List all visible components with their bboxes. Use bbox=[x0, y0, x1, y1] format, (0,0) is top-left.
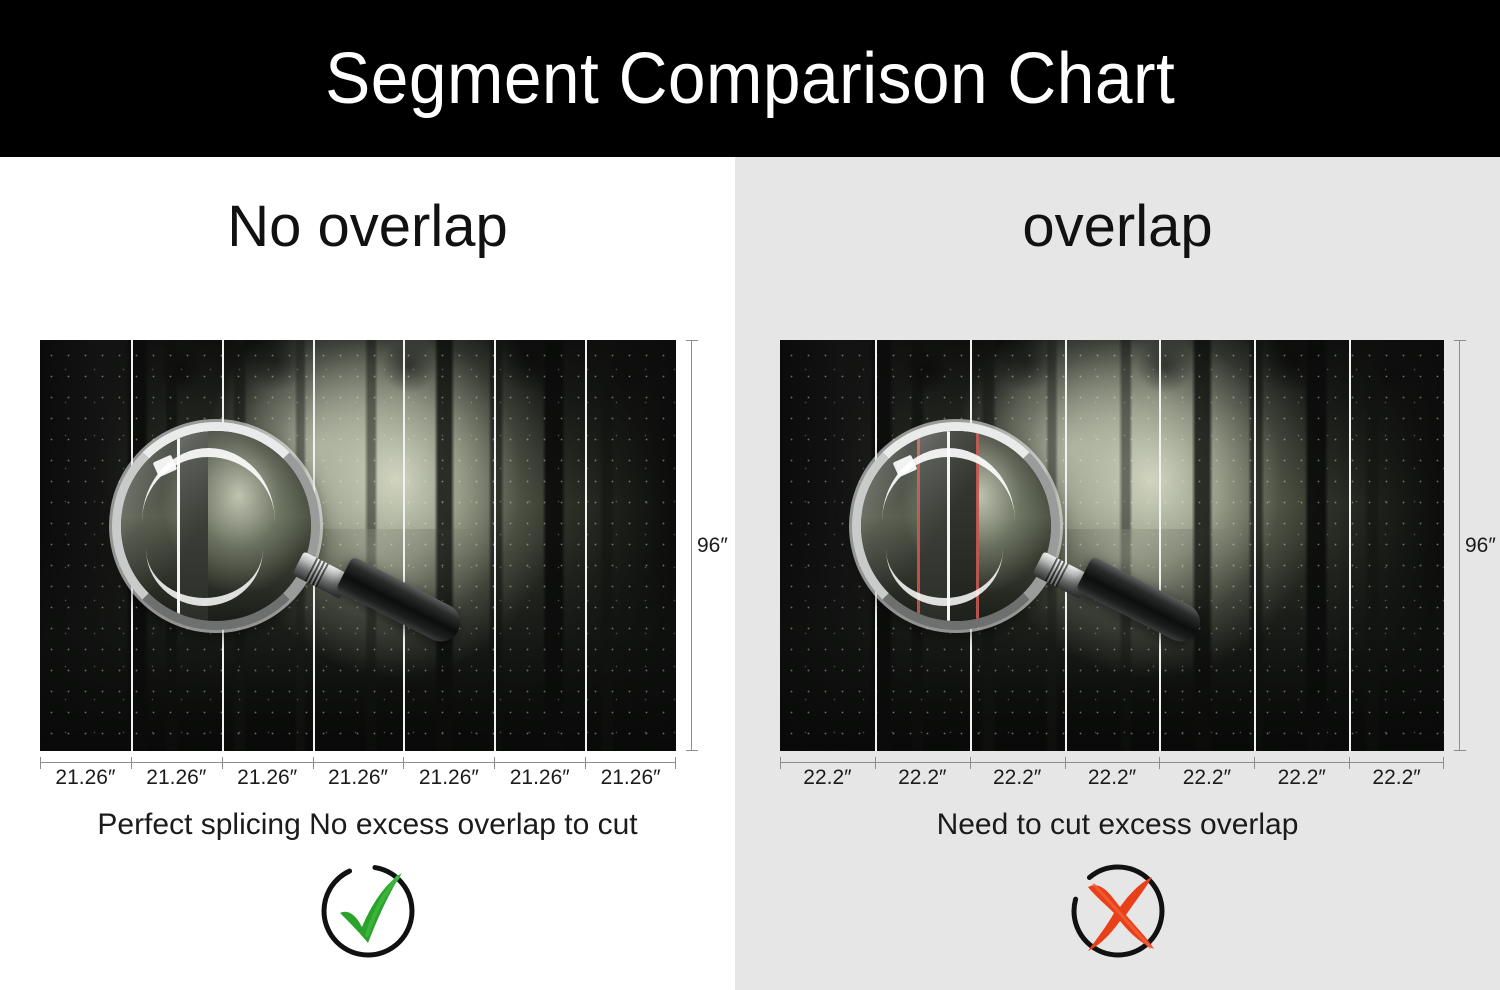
width-dimensions-overlap: 22.2″ 22.2″ 22.2″ 22.2″ 22.2″ 22.2″ 22.2… bbox=[780, 757, 1444, 791]
forest-mural-image bbox=[40, 340, 676, 751]
caption-overlap: Need to cut excess overlap bbox=[735, 807, 1500, 843]
seam-line bbox=[1254, 340, 1256, 751]
panel-heading-overlap: overlap bbox=[735, 195, 1500, 259]
seam-line bbox=[131, 340, 133, 751]
segment-width-labels-no-overlap: 21.26″ 21.26″ 21.26″ 21.26″ 21.26″ 21.26… bbox=[40, 765, 676, 791]
verdict-overlap bbox=[735, 857, 1500, 965]
seam-line bbox=[585, 340, 587, 751]
dimension-line-vertical bbox=[1459, 340, 1460, 751]
mural-overlap bbox=[780, 340, 1444, 751]
segment-width-label: 21.26″ bbox=[40, 765, 131, 791]
dimension-line-vertical bbox=[691, 340, 692, 751]
height-dimension-no-overlap: 96″ bbox=[686, 340, 732, 751]
segment-width-label: 21.26″ bbox=[131, 765, 222, 791]
segment-comparison-chart: Segment Comparison Chart No overlap bbox=[0, 0, 1500, 990]
red-cross-icon bbox=[1064, 857, 1172, 965]
verdict-no-overlap bbox=[0, 857, 790, 965]
segment-width-label: 22.2″ bbox=[1065, 765, 1160, 791]
seam-line bbox=[222, 340, 224, 751]
seam-line bbox=[970, 340, 972, 751]
height-label-overlap: 96″ bbox=[1465, 534, 1496, 558]
dimension-tick bbox=[686, 340, 698, 341]
segment-width-labels-overlap: 22.2″ 22.2″ 22.2″ 22.2″ 22.2″ 22.2″ 22.2… bbox=[780, 765, 1444, 791]
seam-line bbox=[403, 340, 405, 751]
green-check-icon bbox=[314, 857, 422, 965]
page-title: Segment Comparison Chart bbox=[325, 43, 1175, 115]
segment-width-label: 22.2″ bbox=[1254, 765, 1349, 791]
dimension-tick bbox=[1454, 750, 1466, 751]
comparison-panels: No overlap bbox=[0, 157, 1500, 990]
mural-no-overlap bbox=[40, 340, 676, 751]
segment-width-label: 21.26″ bbox=[403, 765, 494, 791]
seam-line bbox=[1159, 340, 1161, 751]
caption-no-overlap: Perfect splicing No excess overlap to cu… bbox=[0, 807, 790, 843]
segment-width-label: 22.2″ bbox=[875, 765, 970, 791]
panel-seam-lines bbox=[40, 340, 676, 751]
panel-heading-no-overlap: No overlap bbox=[0, 195, 790, 259]
height-dimension-overlap: 96″ bbox=[1454, 340, 1500, 751]
segment-width-label: 22.2″ bbox=[1349, 765, 1444, 791]
panel-seam-lines bbox=[780, 340, 1444, 751]
segment-width-label: 21.26″ bbox=[585, 765, 676, 791]
segment-width-label: 22.2″ bbox=[780, 765, 875, 791]
segment-width-label: 21.26″ bbox=[494, 765, 585, 791]
seam-line bbox=[1065, 340, 1067, 751]
panel-overlap: overlap bbox=[735, 157, 1500, 990]
segment-width-label: 22.2″ bbox=[1159, 765, 1254, 791]
seam-line bbox=[494, 340, 496, 751]
seam-line bbox=[313, 340, 315, 751]
dimension-tick bbox=[1454, 340, 1466, 341]
panel-no-overlap: No overlap bbox=[0, 157, 735, 990]
segment-width-label: 21.26″ bbox=[222, 765, 313, 791]
seam-line bbox=[875, 340, 877, 751]
dimension-line-horizontal bbox=[780, 762, 1444, 763]
segment-width-label: 21.26″ bbox=[313, 765, 404, 791]
width-dimensions-no-overlap: 21.26″ 21.26″ 21.26″ 21.26″ 21.26″ 21.26… bbox=[40, 757, 676, 791]
dimension-tick bbox=[686, 750, 698, 751]
forest-mural-image bbox=[780, 340, 1444, 751]
dimension-line-horizontal bbox=[40, 762, 676, 763]
title-banner: Segment Comparison Chart bbox=[0, 0, 1500, 157]
seam-line bbox=[1349, 340, 1351, 751]
height-label-no-overlap: 96″ bbox=[697, 534, 728, 558]
segment-width-label: 22.2″ bbox=[970, 765, 1065, 791]
